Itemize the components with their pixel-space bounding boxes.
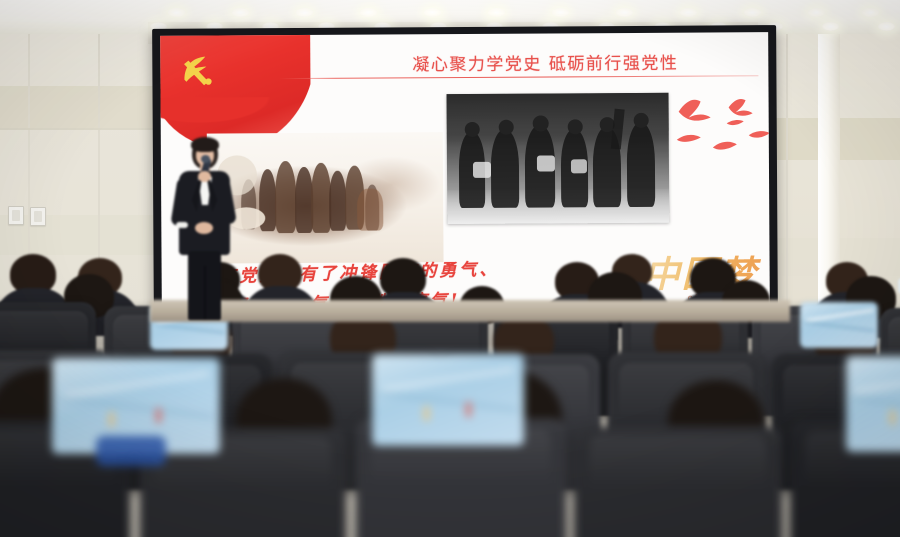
audience-seating-area <box>0 250 900 537</box>
presenter-hand <box>195 222 213 234</box>
ceiling-downlight <box>878 22 895 31</box>
historical-black-and-white-photo <box>447 93 670 224</box>
nurse-cap <box>800 302 878 348</box>
hammer-and-sickle-icon <box>178 54 218 88</box>
ceiling-downlight <box>862 8 879 17</box>
cap-fold <box>854 372 900 393</box>
cap-fold <box>63 371 209 397</box>
wall-switch[interactable] <box>8 206 24 225</box>
cap-fold <box>59 397 213 419</box>
cap-fold <box>382 367 515 391</box>
trouser-seam <box>204 266 206 320</box>
lecture-hall-screenshot: 凝心聚力学党史 砥砺前行强党性 <box>0 0 900 537</box>
ceiling-downlight <box>616 8 633 17</box>
presenter-woman-with-microphone <box>172 138 236 320</box>
slide-title: 凝心聚力学党史 砥砺前行强党性 <box>310 48 770 76</box>
cap-hair-pin <box>890 410 895 425</box>
revolutionary-history-painting <box>207 132 444 263</box>
flying-birds-graphic <box>670 87 769 164</box>
conference-chair <box>574 426 782 537</box>
presenter-hair <box>191 137 219 152</box>
ceiling-downlight <box>808 8 825 17</box>
wall-seam <box>0 128 175 130</box>
ceiling-downlight <box>232 8 249 17</box>
cap-hair-pin <box>424 406 429 421</box>
ceiling-downlight <box>680 8 697 17</box>
ceiling-downlight <box>296 8 313 17</box>
wall-band <box>0 86 175 130</box>
nurse-cap <box>372 354 524 446</box>
cap-hair-pin <box>109 412 114 427</box>
cap-hair-pin <box>466 402 471 417</box>
ceiling-downlight <box>168 8 185 17</box>
nurse-cap <box>846 356 900 452</box>
cap-fold <box>153 323 225 335</box>
presenter-hand-holding-mic <box>198 171 211 182</box>
cap-fold <box>378 391 517 411</box>
cap-fold <box>805 309 873 323</box>
scrub-collar <box>96 436 166 466</box>
ceiling-downlight <box>488 8 505 17</box>
ceiling-downlight <box>822 22 839 31</box>
wall-switch[interactable] <box>30 207 46 226</box>
cap-fold <box>803 321 875 333</box>
microphone-head <box>201 155 210 163</box>
title-divider-rule <box>278 75 758 79</box>
front-desk-surface <box>150 300 790 322</box>
cap-hair-pin <box>156 408 161 423</box>
ceiling-downlight <box>424 8 441 17</box>
ceiling-downlight <box>744 8 761 17</box>
wall-band <box>0 215 175 255</box>
ceiling-downlight <box>552 8 569 17</box>
ceiling-downlight <box>360 8 377 17</box>
shirt-cuff <box>176 222 188 228</box>
